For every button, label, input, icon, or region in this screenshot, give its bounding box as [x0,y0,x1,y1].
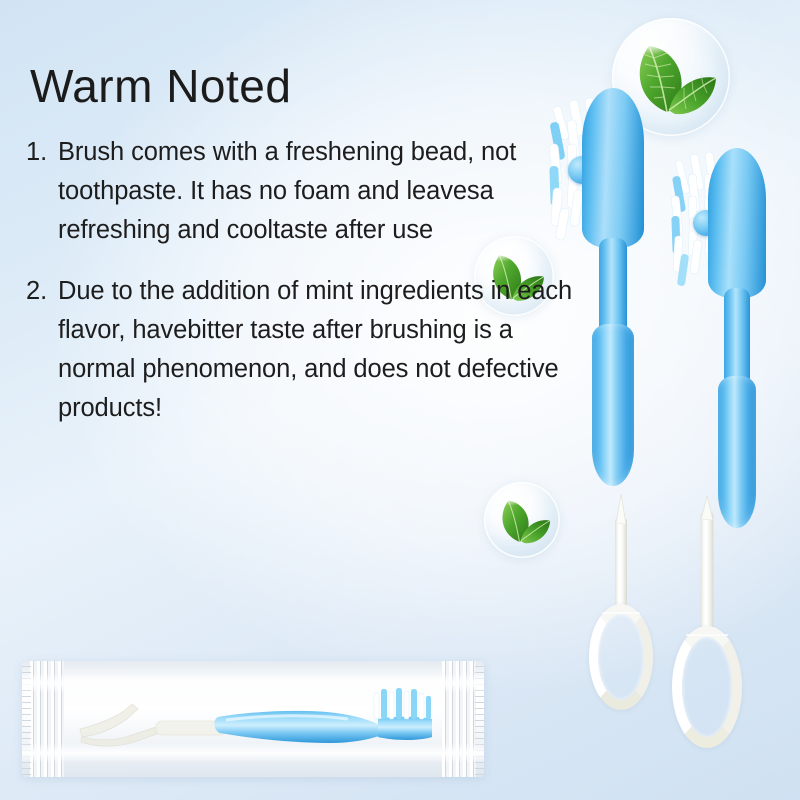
note-text: Brush comes with a freshening bead, not … [58,133,580,250]
sealed-sachet [22,661,484,777]
note-item: 1. Brush comes with a freshening bead, n… [20,133,580,250]
brush-head [582,88,644,248]
brush-handle [592,324,634,486]
warm-notes-list: 1. Brush comes with a freshening bead, n… [20,133,580,450]
note-number: 2. [20,272,58,311]
floss-pick-yoke [672,626,742,748]
sachet-contents [68,685,448,755]
sachet-zigzag-right [475,661,484,777]
sachet-crimp-left [30,661,64,777]
sachet-zigzag-left [22,661,31,777]
floss-thread [597,608,645,618]
sachet-floss-pick [80,704,226,746]
floss-pick-tip-icon [696,496,718,520]
mint-leaf-icon [492,493,552,547]
promo-image-canvas: Warm Noted 1. Brush comes with a freshen… [0,0,800,800]
note-item: 2. Due to the addition of mint ingredien… [20,272,580,428]
floss-pick-stem [615,518,627,614]
note-text: Due to the addition of mint ingredients … [58,272,580,428]
floss-thread [681,630,733,640]
sachet-brush-head [378,717,432,740]
floss-pick-right [672,498,742,748]
sachet-bristles [374,688,431,719]
note-number: 1. [20,133,58,172]
floss-pick-stem [701,512,714,636]
floss-pick-tip-icon [610,494,632,524]
toothbrush-back [655,148,775,548]
brush-head [708,148,766,298]
brush-neck [724,288,750,388]
floss-pick-yoke [589,604,653,710]
page-title: Warm Noted [30,62,291,110]
floss-pick-left [588,488,654,688]
mint-bubble-lower [484,482,560,558]
